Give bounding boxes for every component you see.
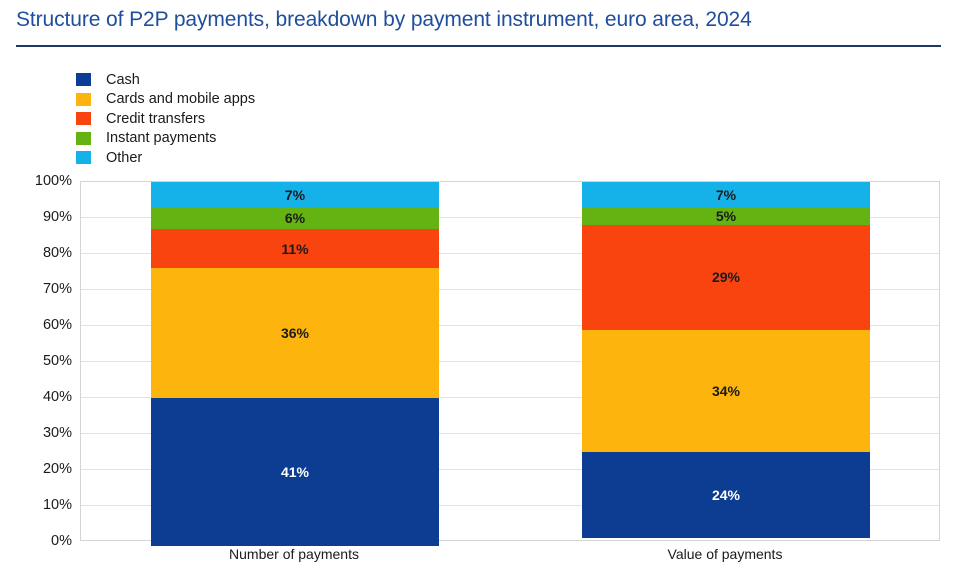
legend-swatch-icon [76, 93, 91, 106]
bar-segment-value-label: 11% [281, 242, 308, 256]
bar-segment-value-label: 36% [281, 326, 309, 340]
page-title: Structure of P2P payments, breakdown by … [16, 8, 946, 32]
legend-swatch-icon [76, 112, 91, 125]
y-axis-tick-label: 0% [10, 533, 72, 549]
bar-segment-value-label: 5% [716, 209, 736, 223]
y-axis-tick-label: 90% [10, 209, 72, 225]
legend-item[interactable]: Cash [76, 70, 255, 90]
bar-segment[interactable]: 24% [582, 452, 870, 538]
y-axis-tick-label: 100% [10, 173, 72, 189]
bar-segment[interactable]: 34% [582, 330, 870, 452]
bar-segment[interactable]: 36% [151, 268, 439, 398]
y-axis-tick-label: 40% [10, 389, 72, 405]
legend-item-label: Cash [106, 72, 140, 88]
x-axis-label-value-of-payments: Value of payments [525, 546, 925, 562]
y-axis-tick-label: 20% [10, 461, 72, 477]
bar-segment-value-label: 7% [716, 188, 736, 202]
legend-item[interactable]: Other [76, 148, 255, 168]
bar-segment-value-label: 41% [281, 465, 309, 479]
bar-segment[interactable]: 29% [582, 225, 870, 329]
legend-item[interactable]: Credit transfers [76, 109, 255, 129]
plot-area: 7%6%11%36%41% 7%5%29%34%24% [80, 181, 940, 541]
y-axis-tick-label: 70% [10, 281, 72, 297]
y-axis-tick-label: 80% [10, 245, 72, 261]
bar-segment[interactable]: 41% [151, 398, 439, 546]
x-axis-label-number-of-payments: Number of payments [94, 546, 494, 562]
bar-segment-value-label: 6% [285, 211, 305, 225]
legend-swatch-icon [76, 132, 91, 145]
legend-item-label: Cards and mobile apps [106, 91, 255, 107]
legend-item-label: Credit transfers [106, 111, 205, 127]
legend-swatch-icon [76, 73, 91, 86]
bar-segment[interactable]: 5% [582, 207, 870, 225]
legend-item[interactable]: Instant payments [76, 129, 255, 149]
bar-segment[interactable]: 7% [582, 182, 870, 207]
bar-segment-value-label: 29% [712, 270, 740, 284]
bar-segment-value-label: 24% [712, 488, 740, 502]
title-divider [16, 45, 941, 47]
y-axis-tick-label: 60% [10, 317, 72, 333]
bar-segment[interactable]: 7% [151, 182, 439, 207]
bar-segment-value-label: 7% [285, 188, 305, 202]
legend-swatch-icon [76, 151, 91, 164]
y-axis-tick-label: 50% [10, 353, 72, 369]
legend-item-label: Other [106, 150, 142, 166]
legend-item[interactable]: Cards and mobile apps [76, 90, 255, 110]
y-axis-tick-label: 30% [10, 425, 72, 441]
bar-segment-value-label: 34% [712, 384, 740, 398]
legend-item-label: Instant payments [106, 130, 216, 146]
bar-number-of-payments[interactable]: 7%6%11%36%41% [151, 182, 439, 540]
y-axis: 0%10%20%30%40%50%60%70%80%90%100% [8, 181, 72, 541]
bar-segment[interactable]: 11% [151, 229, 439, 269]
y-axis-tick-label: 10% [10, 497, 72, 513]
bar-segment[interactable]: 6% [151, 207, 439, 229]
chart-legend: CashCards and mobile appsCredit transfer… [76, 70, 255, 168]
bar-value-of-payments[interactable]: 7%5%29%34%24% [582, 182, 870, 540]
